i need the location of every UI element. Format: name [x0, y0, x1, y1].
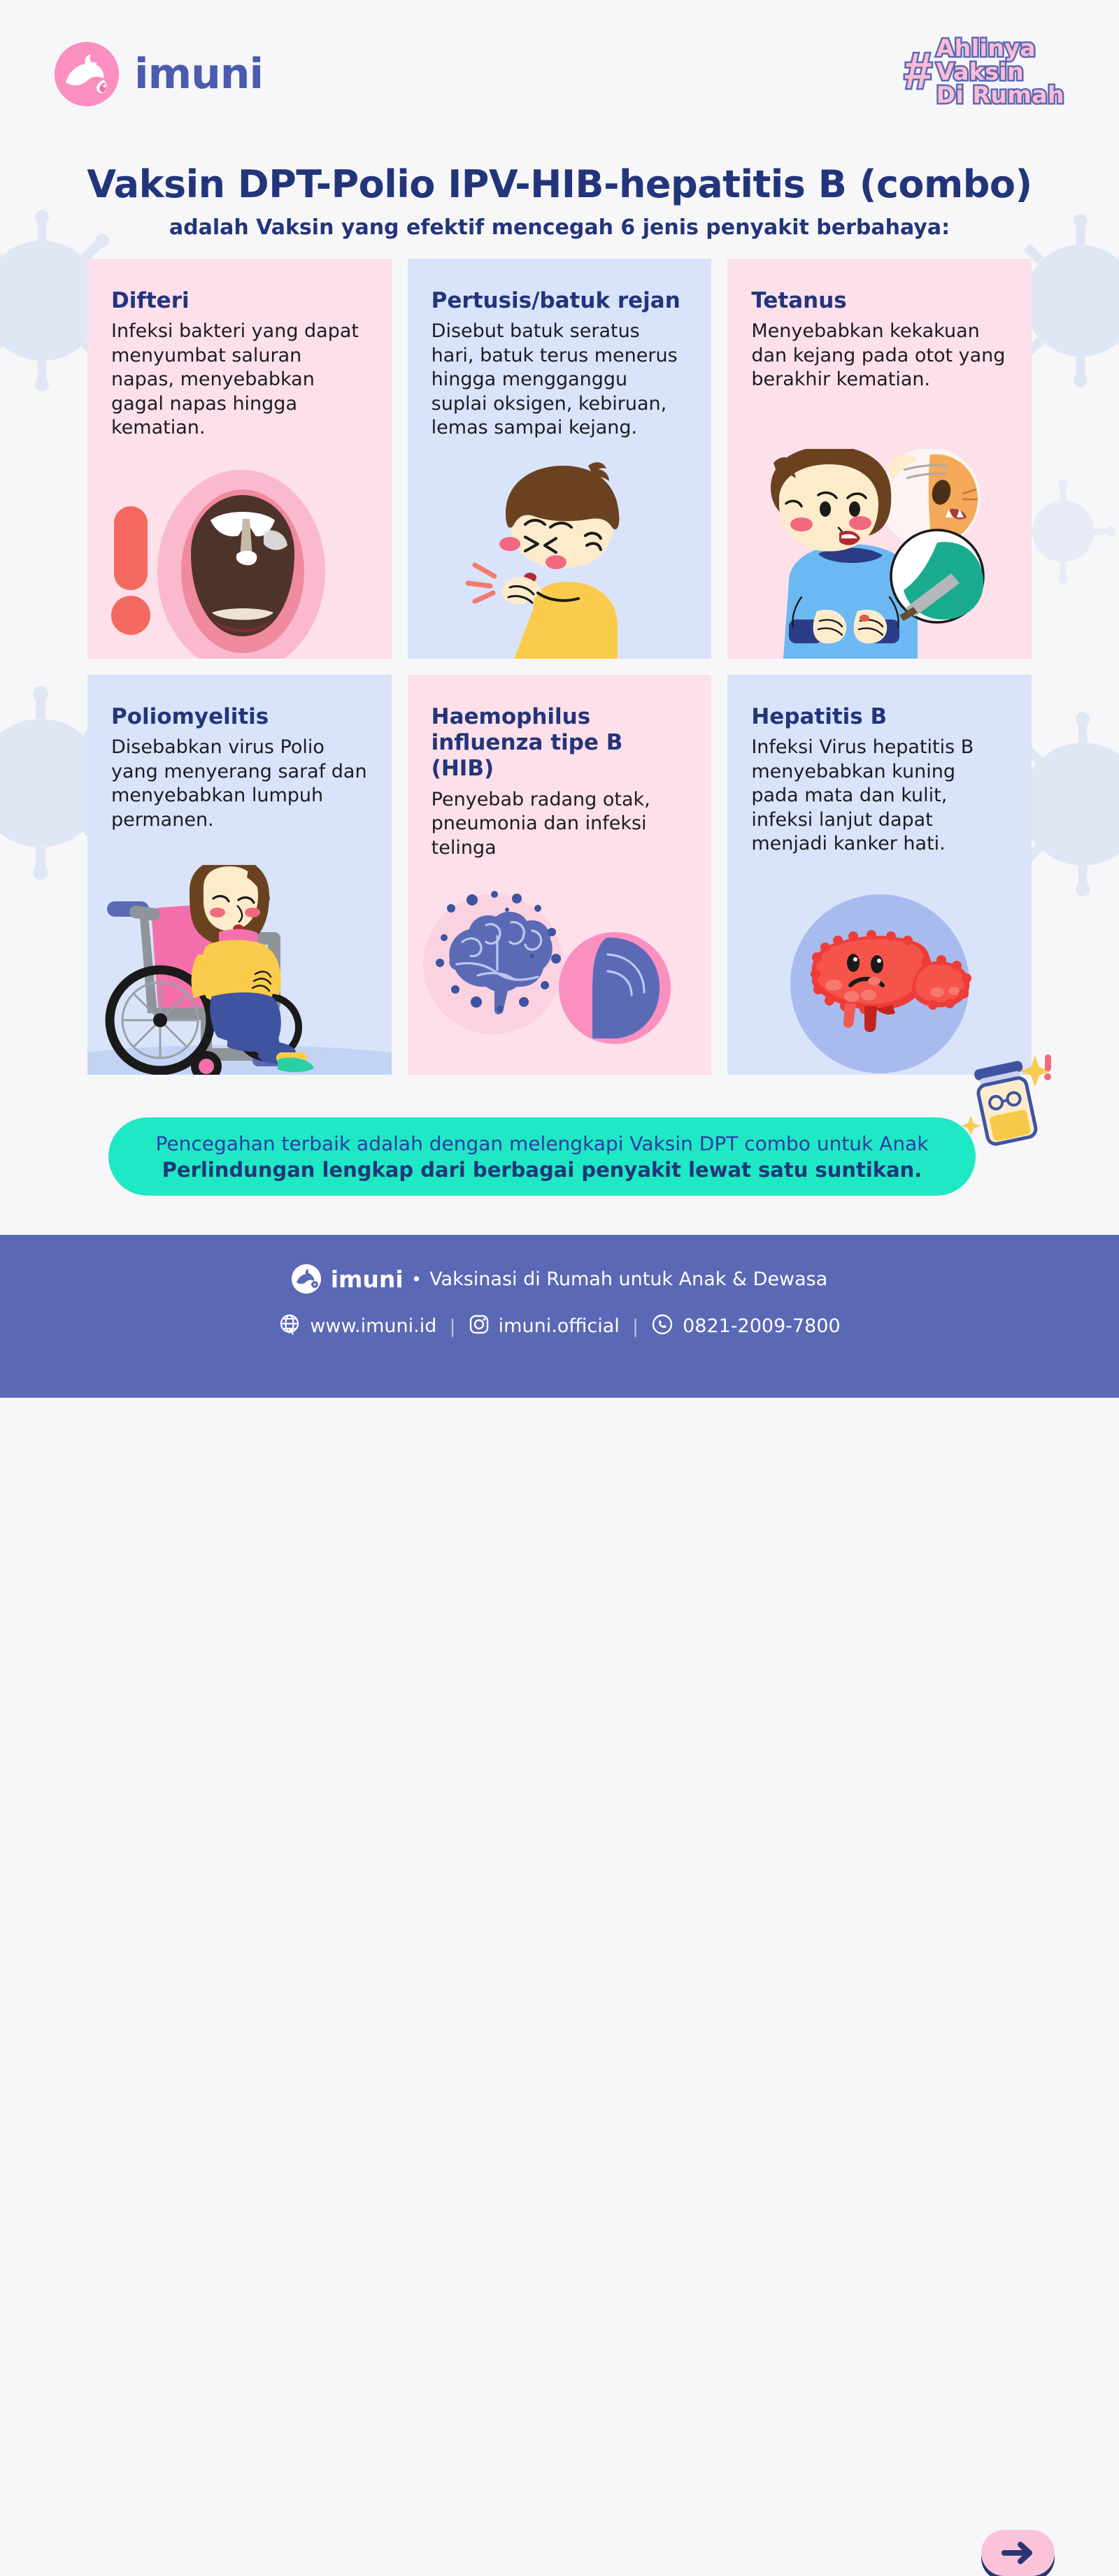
disease-card-difteri: Difteri Infeksi bakteri yang dapat menyu…	[87, 259, 392, 659]
page-title: Vaksin DPT-Polio IPV-HIB-hepatitis B (co…	[0, 162, 1119, 206]
website-text[interactable]: www.imuni.id	[310, 1315, 436, 1337]
cta-banner: Pencegahan terbaik adalah dengan melengk…	[108, 1117, 976, 1196]
footer-brand-name: imuni	[331, 1266, 404, 1293]
boy-cat-scratch-icon	[727, 449, 1032, 659]
card-body: Penyebab radang otak, pneumonia dan infe…	[432, 788, 688, 861]
page-header: imuni # Ahlinya Vaksin Di Rumah	[0, 0, 1119, 126]
disease-card-hepatitis-b: Hepatitis B Infeksi Virus hepatitis B me…	[727, 675, 1032, 1075]
disease-card-pertusis: Pertusis/batuk rejan Disebut batuk serat…	[408, 259, 712, 659]
disease-card-grid: Difteri Infeksi bakteri yang dapat menyu…	[87, 259, 1032, 1075]
page-footer: imuni • Vaksinasi di Rumah untuk Anak & …	[0, 1235, 1119, 1398]
page-subtitle: adalah Vaksin yang efektif mencegah 6 je…	[0, 215, 1119, 240]
hashtag-line-2: Vaksin	[936, 60, 1064, 84]
brand-logo: imuni	[55, 42, 263, 106]
stork-bird-droplet-icon	[292, 1264, 321, 1294]
disease-card-tetanus: Tetanus Menyebabkan kekakuan dan kejang …	[727, 259, 1032, 659]
card-row-1: Difteri Infeksi bakteri yang dapat menyu…	[87, 259, 1032, 659]
card-body: Infeksi Virus hepatitis B menyebabkan ku…	[751, 736, 1008, 857]
card-row-2: Poliomyelitis Disebabkan virus Polio yan…	[87, 675, 1032, 1075]
coughing-boy-icon	[408, 449, 712, 659]
card-title: Pertusis/batuk rejan	[432, 288, 688, 314]
card-title: Poliomyelitis	[111, 704, 368, 730]
vaccine-jar-icon	[957, 1049, 1055, 1154]
open-mouth-throat-icon	[87, 449, 392, 659]
instagram-icon	[469, 1314, 490, 1338]
whatsapp-number-text[interactable]: 0821-2009-7800	[683, 1315, 841, 1337]
footer-bullet: •	[413, 1268, 420, 1290]
cta-line-1: Pencegahan terbaik adalah dengan melengk…	[156, 1132, 929, 1155]
cta-line-2: Perlindungan lengkap dari berbagai penya…	[162, 1158, 922, 1182]
card-body: Disebut batuk seratus hari, batuk terus …	[432, 320, 688, 441]
stork-bird-droplet-icon	[55, 42, 119, 106]
footer-separator-1: |	[450, 1315, 455, 1338]
disease-card-hib: Haemophilus influenza tipe B (HIB) Penye…	[408, 675, 712, 1075]
card-title: Difteri	[111, 288, 368, 314]
brain-ear-icon	[408, 865, 712, 1075]
card-body: Disebabkan virus Polio yang menyerang sa…	[111, 736, 368, 832]
card-title: Haemophilus influenza tipe B (HIB)	[432, 704, 688, 782]
disease-card-poliomyelitis: Poliomyelitis Disebabkan virus Polio yan…	[87, 675, 392, 1075]
next-arrow-button[interactable]	[981, 2530, 1055, 2576]
globe-icon	[278, 1313, 301, 1339]
card-title: Hepatitis B	[751, 704, 1008, 730]
whatsapp-icon	[651, 1313, 673, 1339]
hashtag-line-3: Di Rumah	[936, 83, 1064, 107]
card-title: Tetanus	[751, 288, 1008, 314]
girl-wheelchair-icon	[87, 865, 392, 1075]
card-body: Menyebabkan kekakuan dan kejang pada oto…	[751, 320, 1008, 392]
sad-liver-icon	[727, 865, 1032, 1075]
footer-separator-2: |	[633, 1315, 638, 1338]
hash-symbol-icon: #	[904, 48, 932, 95]
footer-contact-row: www.imuni.id | imuni.official | 0821-200…	[0, 1313, 1119, 1339]
hashtag-line-1: Ahlinya	[936, 36, 1064, 60]
brand-name: imuni	[134, 50, 263, 99]
card-body: Infeksi bakteri yang dapat menyumbat sal…	[111, 320, 368, 441]
footer-brand-row: imuni • Vaksinasi di Rumah untuk Anak & …	[0, 1264, 1119, 1294]
footer-tagline: Vaksinasi di Rumah untuk Anak & Dewasa	[429, 1268, 827, 1290]
instagram-handle-text[interactable]: imuni.official	[499, 1315, 620, 1337]
campaign-hashtag: # Ahlinya Vaksin Di Rumah	[904, 36, 1064, 107]
